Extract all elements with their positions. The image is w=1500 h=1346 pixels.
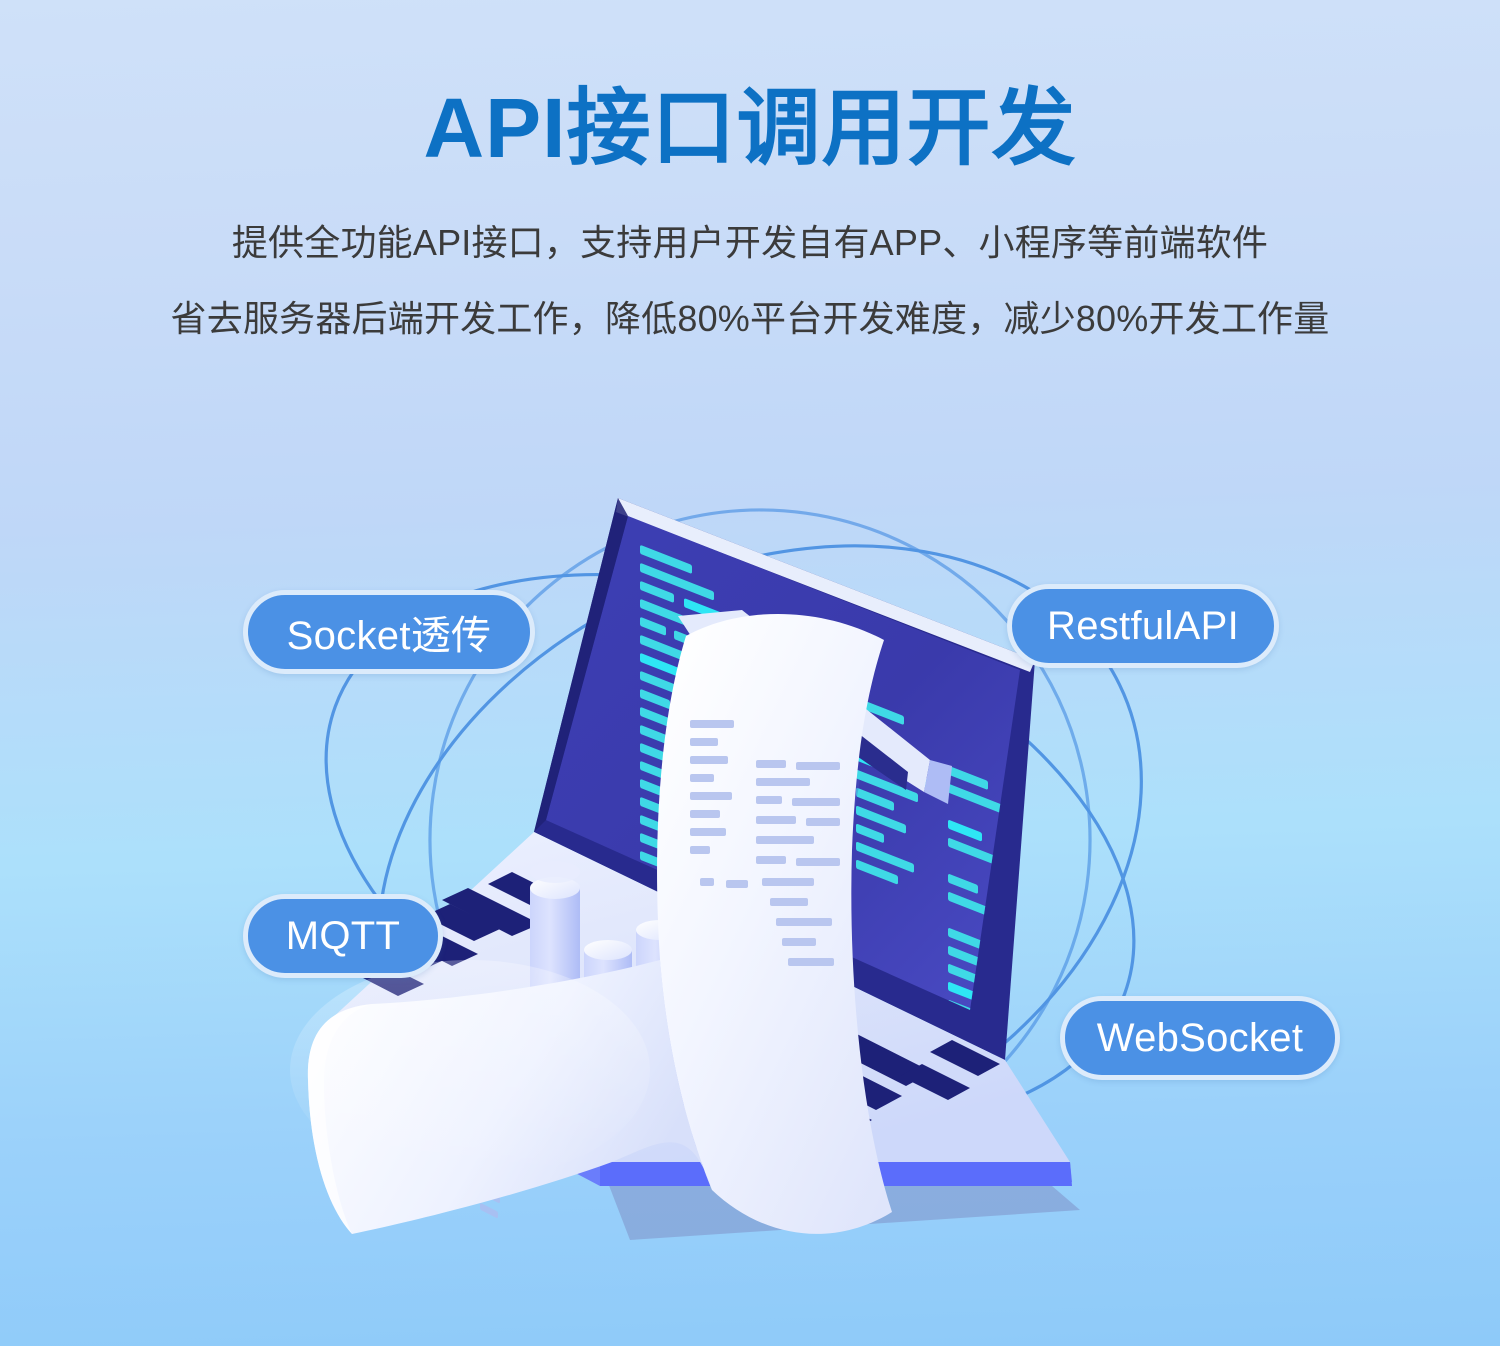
subtitle-line-2: 省去服务器后端开发工作，降低80%平台开发难度，减少80%开发工作量 (0, 266, 1500, 342)
subtitle-line-1: 提供全功能API接口，支持用户开发自有APP、小程序等前端软件 (0, 170, 1500, 266)
tag-pill-mqtt[interactable]: MQTT (243, 894, 443, 978)
tag-pill-socket[interactable]: Socket透传 (243, 590, 535, 674)
hero-section: API接口调用开发 提供全功能API接口，支持用户开发自有APP、小程序等前端软… (0, 0, 1500, 342)
tag-pill-restfulapi[interactable]: RestfulAPI (1007, 584, 1279, 668)
paper-glow (290, 960, 650, 1180)
page-title: API接口调用开发 (0, 0, 1500, 170)
illustration-stage (0, 420, 1500, 1346)
laptop-illustration (0, 420, 1500, 1346)
tag-pill-websocket[interactable]: WebSocket (1060, 996, 1340, 1080)
